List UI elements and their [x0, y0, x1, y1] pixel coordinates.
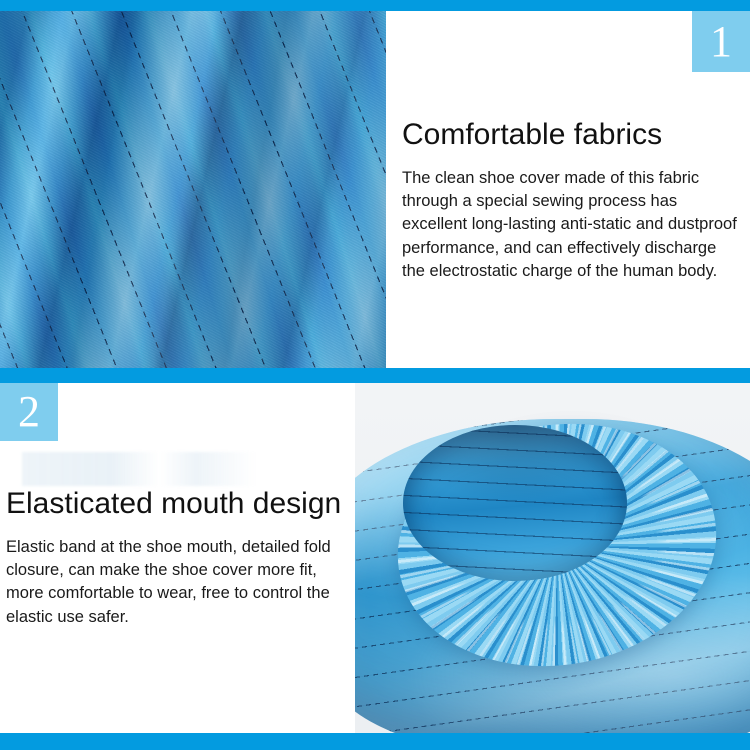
feature-1-body: The clean shoe cover made of this fabric…: [402, 167, 742, 284]
product-feature-infographic: 1 Comfortable fabrics The clean shoe cov…: [0, 0, 750, 750]
feature-2-title: Elasticated mouth design: [6, 487, 348, 522]
feature-2-body: Elastic band at the shoe mouth, detailed…: [6, 536, 348, 630]
fabric-photo: [0, 11, 386, 368]
bottom-accent-bar: [0, 733, 750, 750]
step-number-2-label: 2: [18, 390, 40, 434]
shoe-cover-mouth-opening: [403, 425, 627, 581]
mouth-interior-shading: [403, 425, 627, 581]
shoe-cover-photo: [355, 383, 750, 733]
fabric-fold-shading: [0, 11, 386, 368]
feature-1-text-block: Comfortable fabrics The clean shoe cover…: [402, 118, 742, 284]
feature-1-title: Comfortable fabrics: [402, 118, 742, 153]
step-number-badge-2: 2: [0, 383, 58, 441]
watermark-remnant: [22, 452, 322, 486]
step-number-1-label: 1: [710, 20, 732, 64]
section-divider-bar: [0, 368, 750, 383]
top-accent-bar: [0, 0, 750, 11]
feature-2-text-block: Elasticated mouth design Elastic band at…: [6, 487, 348, 629]
step-number-badge-1: 1: [692, 11, 750, 72]
